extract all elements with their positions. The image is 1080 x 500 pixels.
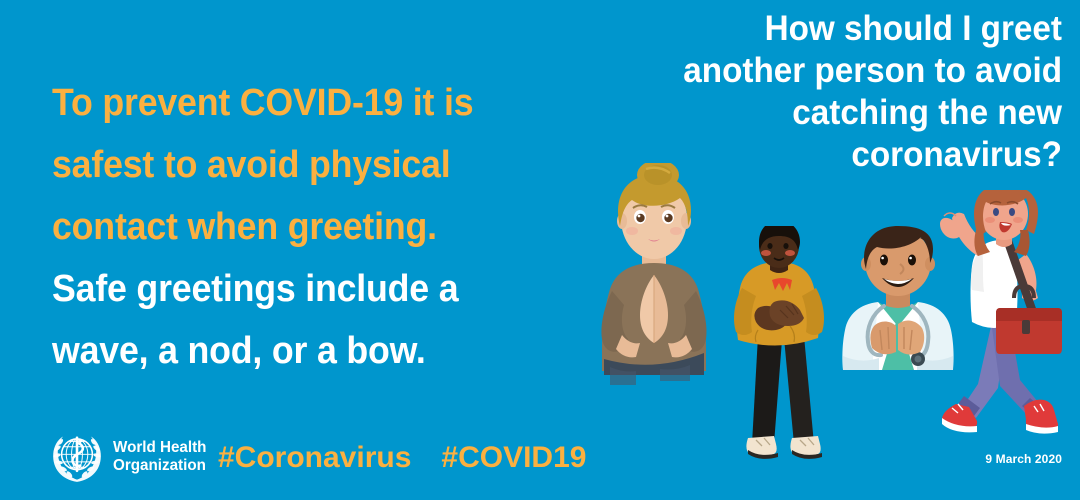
who-covid19-poster: To prevent COVID-19 it is safest to avoi… bbox=[0, 0, 1080, 500]
figure-hand-over-heart-illustration bbox=[728, 226, 832, 466]
hashtag-coronavirus[interactable]: #Coronavirus bbox=[218, 440, 411, 476]
question-line-1: How should I greet bbox=[616, 8, 1063, 50]
figure-namaste bbox=[588, 163, 720, 413]
message-line-5: wave, a nod, or a bow. bbox=[52, 320, 531, 382]
figure-waving bbox=[938, 190, 1068, 445]
main-message: To prevent COVID-19 it is safest to avoi… bbox=[52, 72, 562, 382]
question-line-3: catching the new bbox=[616, 92, 1063, 134]
who-wordmark: World Health Organization bbox=[113, 439, 206, 475]
figure-namaste-illustration bbox=[588, 163, 720, 408]
who-logo: World Health Organization bbox=[50, 430, 211, 484]
message-line-2: safest to avoid physical bbox=[52, 134, 531, 196]
question-line-2: another person to avoid bbox=[616, 50, 1063, 92]
date-stamp: 9 March 2020 bbox=[985, 452, 1062, 466]
who-emblem-icon bbox=[50, 430, 104, 484]
hashtag-covid19[interactable]: #COVID19 bbox=[441, 440, 586, 476]
figure-waving-illustration bbox=[938, 190, 1068, 440]
figure-hand-over-heart bbox=[728, 226, 832, 471]
who-wordmark-line-2: Organization bbox=[113, 457, 206, 475]
who-wordmark-line-1: World Health bbox=[113, 439, 206, 457]
message-line-3: contact when greeting. bbox=[52, 196, 531, 258]
headline-question: How should I greet another person to avo… bbox=[592, 8, 1062, 176]
hashtag-group: #Coronavirus #COVID19 bbox=[218, 440, 586, 476]
message-line-1: To prevent COVID-19 it is bbox=[52, 72, 531, 134]
message-line-4: Safe greetings include a bbox=[52, 258, 531, 320]
